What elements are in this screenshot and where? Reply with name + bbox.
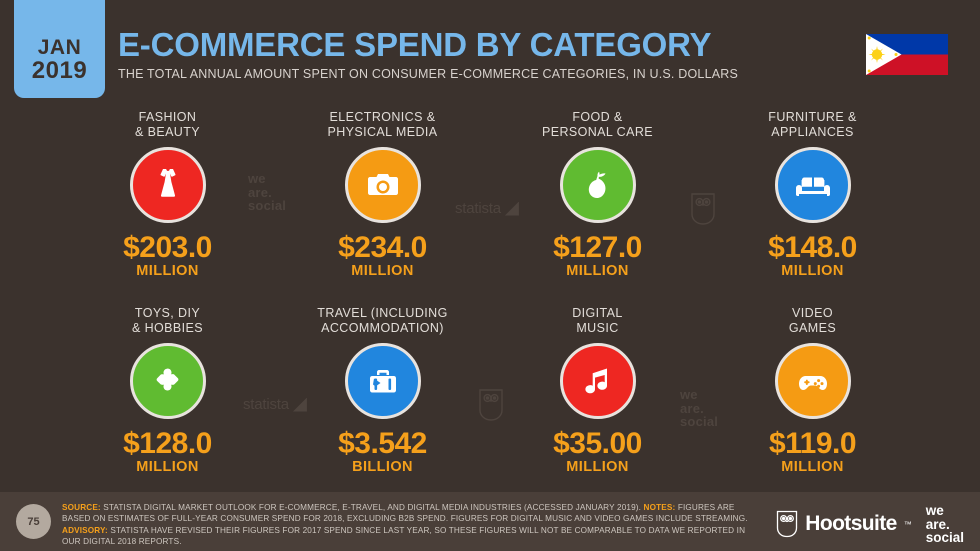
was-line3: social bbox=[926, 531, 964, 545]
hootsuite-wordmark: Hootsuite bbox=[805, 512, 896, 536]
category-label: ELECTRONICS & PHYSICAL MEDIA bbox=[327, 110, 437, 142]
category-label-line2: ACCOMMODATION) bbox=[321, 321, 444, 335]
category-label-line1: FURNITURE & bbox=[768, 110, 856, 124]
philippines-flag-icon bbox=[866, 34, 948, 75]
category-unit: MILLION bbox=[566, 459, 628, 475]
category-unit: MILLION bbox=[781, 459, 843, 475]
brand-logos: Hootsuite ™ we are. social bbox=[776, 504, 964, 545]
page-footer: 75 SOURCE: STATISTA DIGITAL MARKET OUTLO… bbox=[0, 492, 980, 551]
category-label-line1: FOOD & bbox=[572, 110, 622, 124]
page-subtitle: THE TOTAL ANNUAL AMOUNT SPENT ON CONSUME… bbox=[118, 67, 738, 81]
date-month: JAN bbox=[38, 36, 82, 59]
source-label: SOURCE: bbox=[62, 503, 101, 512]
category-label-line2: PERSONAL CARE bbox=[542, 125, 653, 139]
category-label-line1: FASHION bbox=[139, 110, 197, 124]
category-value: $203.0 bbox=[123, 232, 212, 264]
date-year: 2019 bbox=[32, 59, 87, 82]
category-label-line1: DIGITAL bbox=[572, 306, 623, 320]
trademark-symbol: ™ bbox=[904, 520, 912, 529]
we-are-social-logo: we are. social bbox=[926, 504, 964, 545]
page-number: 75 bbox=[27, 516, 39, 528]
category-label-line2: & HOBBIES bbox=[132, 321, 203, 335]
category-tile-furniture-appliances[interactable]: FURNITURE & APPLIANCES $148.0 MILLION bbox=[705, 100, 920, 296]
category-tile-travel[interactable]: TRAVEL (INCLUDING ACCOMMODATION) $3.542 … bbox=[275, 296, 490, 492]
footnote-text: SOURCE: STATISTA DIGITAL MARKET OUTLOOK … bbox=[62, 502, 762, 548]
page-number-badge: 75 bbox=[16, 504, 51, 539]
category-label-line1: TOYS, DIY bbox=[135, 306, 200, 320]
pear-icon bbox=[560, 147, 636, 223]
category-row-1: FASHION & BEAUTY $203.0 MILLION we are. … bbox=[0, 100, 980, 296]
advisory-label: ADVISORY: bbox=[62, 526, 108, 535]
category-row-2: TOYS, DIY & HOBBIES $128.0 MILLION stati… bbox=[0, 296, 980, 492]
sofa-icon bbox=[775, 147, 851, 223]
category-label: TRAVEL (INCLUDING ACCOMMODATION) bbox=[317, 306, 447, 338]
category-label-line2: PHYSICAL MEDIA bbox=[327, 125, 437, 139]
category-unit: MILLION bbox=[351, 263, 413, 279]
category-value: $128.0 bbox=[123, 428, 212, 460]
category-grid: FASHION & BEAUTY $203.0 MILLION we are. … bbox=[0, 100, 980, 492]
category-unit: BILLION bbox=[352, 459, 413, 475]
category-tile-food-personal-care[interactable]: FOOD & PERSONAL CARE $127.0 MILLION bbox=[490, 100, 705, 296]
category-label: TOYS, DIY & HOBBIES bbox=[132, 306, 203, 338]
category-label-line1: ELECTRONICS & bbox=[330, 110, 436, 124]
category-value: $127.0 bbox=[553, 232, 642, 264]
category-label-line1: TRAVEL (INCLUDING bbox=[317, 306, 447, 320]
was-line1: we bbox=[926, 504, 964, 518]
category-label: DIGITAL MUSIC bbox=[572, 306, 623, 338]
category-value: $234.0 bbox=[338, 232, 427, 264]
category-label: FURNITURE & APPLIANCES bbox=[768, 110, 856, 142]
was-line2: are. bbox=[926, 518, 964, 532]
category-unit: MILLION bbox=[136, 459, 198, 475]
category-tile-toys-diy-hobbies[interactable]: TOYS, DIY & HOBBIES $128.0 MILLION bbox=[60, 296, 275, 492]
dress-icon bbox=[130, 147, 206, 223]
page-header: JAN 2019 E-COMMERCE SPEND BY CATEGORY TH… bbox=[0, 0, 980, 98]
category-label: FASHION & BEAUTY bbox=[135, 110, 200, 142]
category-tile-electronics-physical-media[interactable]: ELECTRONICS & PHYSICAL MEDIA $234.0 MILL… bbox=[275, 100, 490, 296]
category-tile-video-games[interactable]: VIDEO GAMES $119.0 MILLION bbox=[705, 296, 920, 492]
category-tile-digital-music[interactable]: DIGITAL MUSIC $35.00 MILLION bbox=[490, 296, 705, 492]
category-unit: MILLION bbox=[566, 263, 628, 279]
category-value: $119.0 bbox=[769, 428, 856, 460]
category-label-line2: APPLIANCES bbox=[771, 125, 854, 139]
hootsuite-owl-icon bbox=[776, 510, 798, 538]
date-badge: JAN 2019 bbox=[14, 0, 105, 98]
music-note-icon bbox=[560, 343, 636, 419]
title-block: E-COMMERCE SPEND BY CATEGORY THE TOTAL A… bbox=[118, 26, 738, 81]
category-label-line2: GAMES bbox=[789, 321, 836, 335]
category-value: $148.0 bbox=[768, 232, 857, 264]
camera-icon bbox=[345, 147, 421, 223]
puzzle-piece-icon bbox=[130, 343, 206, 419]
category-value: $3.542 bbox=[338, 428, 427, 460]
category-unit: MILLION bbox=[136, 263, 198, 279]
category-tile-fashion-beauty[interactable]: FASHION & BEAUTY $203.0 MILLION bbox=[60, 100, 275, 296]
suitcase-icon bbox=[345, 343, 421, 419]
source-text: STATISTA DIGITAL MARKET OUTLOOK FOR E-CO… bbox=[103, 503, 641, 512]
advisory-text: STATISTA HAVE REVISED THEIR FIGURES FOR … bbox=[62, 526, 745, 546]
notes-label: NOTES: bbox=[644, 503, 676, 512]
category-label-line2: MUSIC bbox=[576, 321, 618, 335]
category-label-line2: & BEAUTY bbox=[135, 125, 200, 139]
page-title: E-COMMERCE SPEND BY CATEGORY bbox=[118, 26, 738, 64]
hootsuite-logo: Hootsuite ™ bbox=[776, 510, 911, 538]
category-value: $35.00 bbox=[553, 428, 642, 460]
category-label-line1: VIDEO bbox=[792, 306, 833, 320]
category-unit: MILLION bbox=[781, 263, 843, 279]
gamepad-icon bbox=[775, 343, 851, 419]
category-label: VIDEO GAMES bbox=[789, 306, 836, 338]
category-label: FOOD & PERSONAL CARE bbox=[542, 110, 653, 142]
